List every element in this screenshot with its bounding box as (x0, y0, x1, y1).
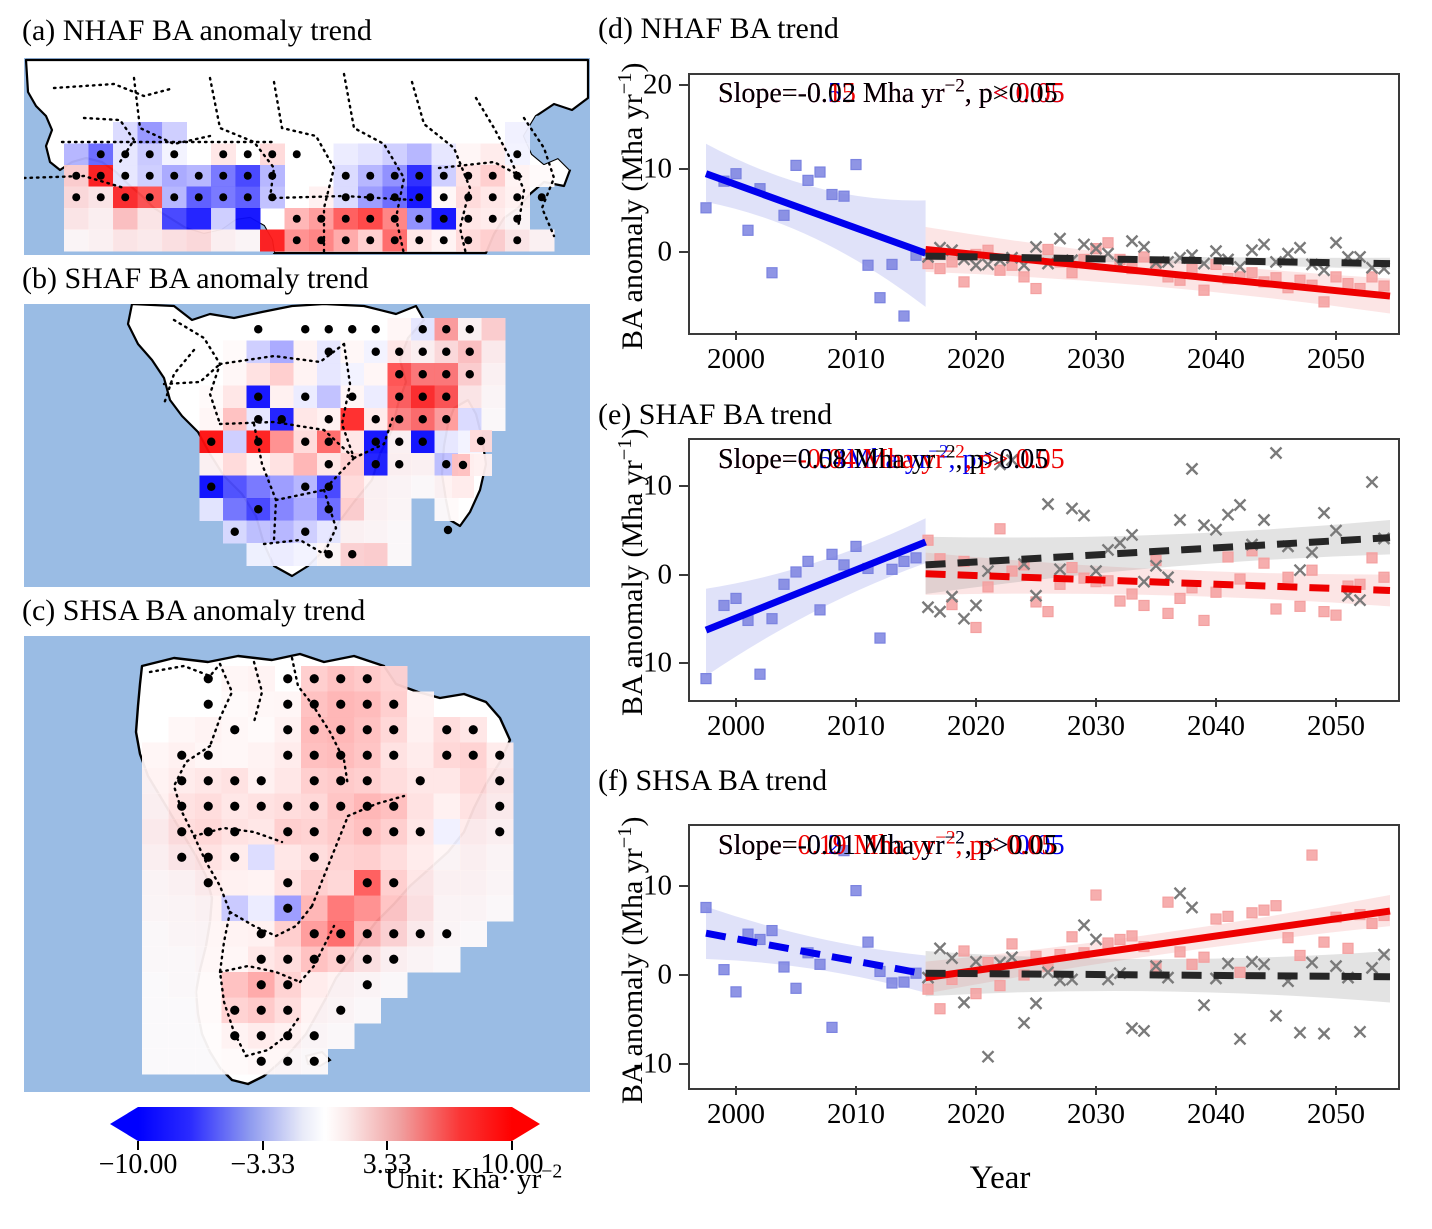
x-tick-label: 2000 (707, 710, 765, 743)
x-tickmark (1335, 1086, 1337, 1095)
x-tick-label: 2040 (1187, 1098, 1245, 1131)
map-nhaf-ba-anomaly-trend (24, 58, 590, 255)
y-tickmark (679, 574, 688, 576)
map-shaf-ba-anomaly-trend (24, 304, 590, 587)
y-tickmark (679, 485, 688, 487)
y-tickmark (679, 885, 688, 887)
colorbar-tick-label: −3.33 (230, 1149, 295, 1181)
y-tickmark (679, 168, 688, 170)
x-tickmark (1215, 1086, 1217, 1095)
slope-annotation: Slope=0.08 Mha yr−2, p>0.05 (718, 444, 1048, 476)
y-tickmark (679, 662, 688, 664)
x-tickmark (735, 698, 737, 707)
colorbar-extend-high-arrow (512, 1107, 540, 1141)
x-tick-label: 2050 (1307, 710, 1365, 743)
x-tick-label: 2000 (707, 343, 765, 376)
colorbar-gradient (138, 1107, 512, 1141)
y-axis-label-e: BA anomaly (Mha yr−1) (616, 429, 650, 717)
x-tickmark (855, 1086, 857, 1095)
x-tick-label: 2020 (947, 710, 1005, 743)
x-tickmark (975, 698, 977, 707)
x-tickmark (975, 1086, 977, 1095)
x-tick-label: 2020 (947, 343, 1005, 376)
colorbar-unit-label: Unit: Kha· yr−2 (385, 1163, 562, 1196)
map-b-title: (b) SHAF BA anomaly trend (22, 264, 369, 294)
x-tickmark (735, 1086, 737, 1095)
x-tick-label: 2010 (827, 1098, 885, 1131)
plot-frame-f (688, 824, 1400, 1090)
map-c-title: (c) SHSA BA anomaly trend (22, 596, 365, 626)
x-tickmark (735, 331, 737, 340)
slope-annotation: Slope=-0.01 Mha yr−2, p>0.05 (718, 830, 1058, 862)
y-tickmark (679, 251, 688, 253)
colorbar-extend-low-arrow (110, 1107, 138, 1141)
x-tickmark (975, 331, 977, 340)
x-tickmark (1095, 1086, 1097, 1095)
x-tickmark (1335, 331, 1337, 340)
chart-d-title: (d) NHAF BA trend (598, 14, 839, 44)
x-tickmark (1215, 698, 1217, 707)
y-tickmark (679, 1063, 688, 1065)
x-tick-label: 2010 (827, 710, 885, 743)
map-a-title: (a) NHAF BA anomaly trend (22, 16, 372, 46)
colorbar-tick-label: −10.00 (99, 1149, 178, 1181)
y-axis-label-f: BA anomaly (Mha yr−1) (616, 817, 650, 1105)
x-tick-label: 2020 (947, 1098, 1005, 1131)
colorbar: −10.00−3.333.3310.00 (110, 1107, 540, 1141)
chart-e-title: (e) SHAF BA trend (598, 400, 832, 430)
x-tick-label: 2050 (1307, 1098, 1365, 1131)
x-tick-label: 2040 (1187, 710, 1245, 743)
chart-f-title: (f) SHSA BA trend (598, 766, 827, 796)
y-axis-label-d: BA anomaly (Mha yr−1) (616, 63, 650, 351)
x-tick-label: 2000 (707, 1098, 765, 1131)
x-tickmark (1095, 331, 1097, 340)
plot-frame-e (688, 438, 1400, 702)
x-tickmark (855, 331, 857, 340)
x-tick-label: 2050 (1307, 343, 1365, 376)
x-tick-label: 2040 (1187, 343, 1245, 376)
plot-frame-d (688, 73, 1400, 335)
x-tickmark (1335, 698, 1337, 707)
slope-annotation: Slope=-0.02 Mha yr−2, p>0.05 (718, 78, 1058, 110)
x-tick-label: 2030 (1067, 343, 1125, 376)
y-tickmark (679, 84, 688, 86)
x-axis-title: Year (970, 1160, 1031, 1197)
x-tickmark (1095, 698, 1097, 707)
x-tick-label: 2030 (1067, 1098, 1125, 1131)
x-tickmark (855, 698, 857, 707)
x-tick-label: 2030 (1067, 710, 1125, 743)
x-tick-label: 2010 (827, 343, 885, 376)
x-tickmark (1215, 331, 1217, 340)
y-tickmark (679, 974, 688, 976)
map-shsa-ba-anomaly-trend (24, 636, 590, 1092)
